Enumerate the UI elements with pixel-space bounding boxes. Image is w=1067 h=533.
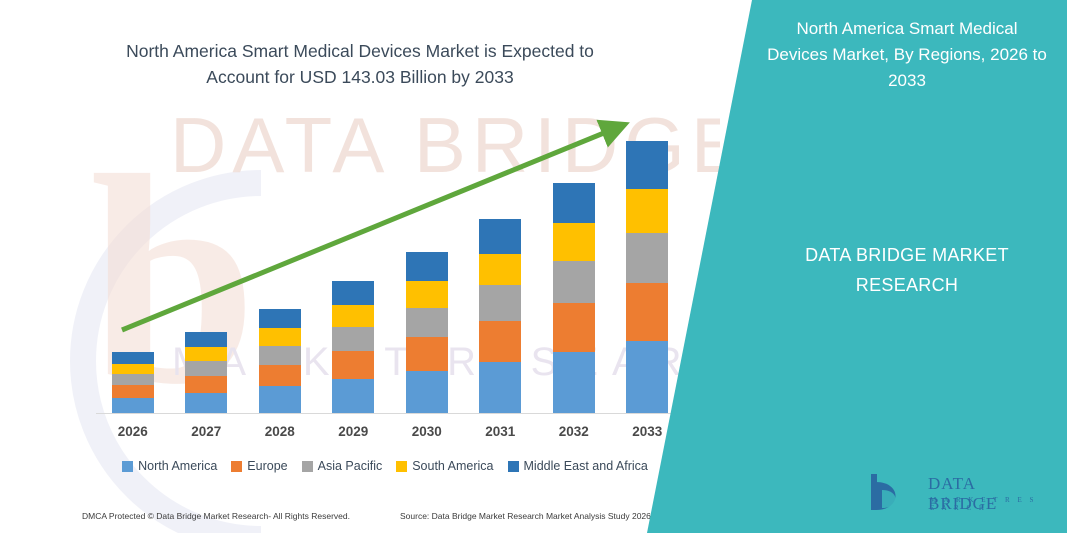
x-axis-label: 2031	[479, 424, 521, 446]
growth-arrow-icon	[78, 100, 698, 360]
legend-swatch	[231, 461, 242, 472]
bar-segment	[332, 379, 374, 413]
bar-segment	[259, 386, 301, 413]
x-axis-labels: 20262027202820292030203120322033	[96, 424, 684, 446]
panel-brand-line1: DATA BRIDGE MARKET	[767, 240, 1047, 270]
legend-label: South America	[412, 459, 493, 473]
legend-swatch	[122, 461, 133, 472]
side-panel-title: North America Smart Medical Devices Mark…	[767, 16, 1047, 94]
legend-swatch	[508, 461, 519, 472]
footer-copyright: DMCA Protected © Data Bridge Market Rese…	[82, 511, 350, 521]
bar-segment	[479, 362, 521, 413]
legend-item[interactable]: Europe	[231, 459, 287, 473]
panel-brand: DATA BRIDGE MARKET RESEARCH	[767, 240, 1047, 300]
bar-segment	[259, 365, 301, 387]
legend-label: Europe	[247, 459, 287, 473]
x-axis-line	[96, 413, 684, 414]
bar-segment	[112, 374, 154, 385]
x-axis-label: 2029	[332, 424, 374, 446]
legend-label: Middle East and Africa	[524, 459, 648, 473]
company-logo: DATA BRIDGE M A R K E T R E S E A R C H	[868, 470, 1048, 520]
legend-item[interactable]: North America	[122, 459, 217, 473]
chart-legend: North AmericaEuropeAsia PacificSouth Ame…	[80, 455, 690, 477]
legend-label: Asia Pacific	[318, 459, 383, 473]
legend-label: North America	[138, 459, 217, 473]
logo-tagline: M A R K E T R E S E A R C H	[930, 496, 1048, 512]
legend-swatch	[396, 461, 407, 472]
x-axis-label: 2027	[185, 424, 227, 446]
x-axis-label: 2028	[259, 424, 301, 446]
bar-segment	[406, 371, 448, 413]
chart-title: North America Smart Medical Devices Mark…	[120, 38, 600, 90]
bar-segment	[185, 361, 227, 376]
bar-segment	[112, 398, 154, 413]
legend-item[interactable]: Middle East and Africa	[508, 459, 648, 473]
x-axis-label: 2032	[553, 424, 595, 446]
legend-swatch	[302, 461, 313, 472]
legend-item[interactable]: South America	[396, 459, 493, 473]
x-axis-label: 2030	[406, 424, 448, 446]
bar-segment	[112, 364, 154, 374]
bar-segment	[185, 393, 227, 413]
bar-segment	[553, 352, 595, 413]
panel-brand-line2: RESEARCH	[767, 270, 1047, 300]
side-panel-content: North America Smart Medical Devices Mark…	[647, 0, 1067, 533]
bar-column	[112, 352, 154, 413]
bar-segment	[185, 376, 227, 392]
footer: DMCA Protected © Data Bridge Market Rese…	[0, 505, 700, 531]
legend-item[interactable]: Asia Pacific	[302, 459, 383, 473]
footer-source: Source: Data Bridge Market Research Mark…	[400, 511, 651, 521]
bridge-logo-icon	[868, 470, 920, 514]
x-axis-label: 2026	[112, 424, 154, 446]
bar-segment	[112, 385, 154, 398]
